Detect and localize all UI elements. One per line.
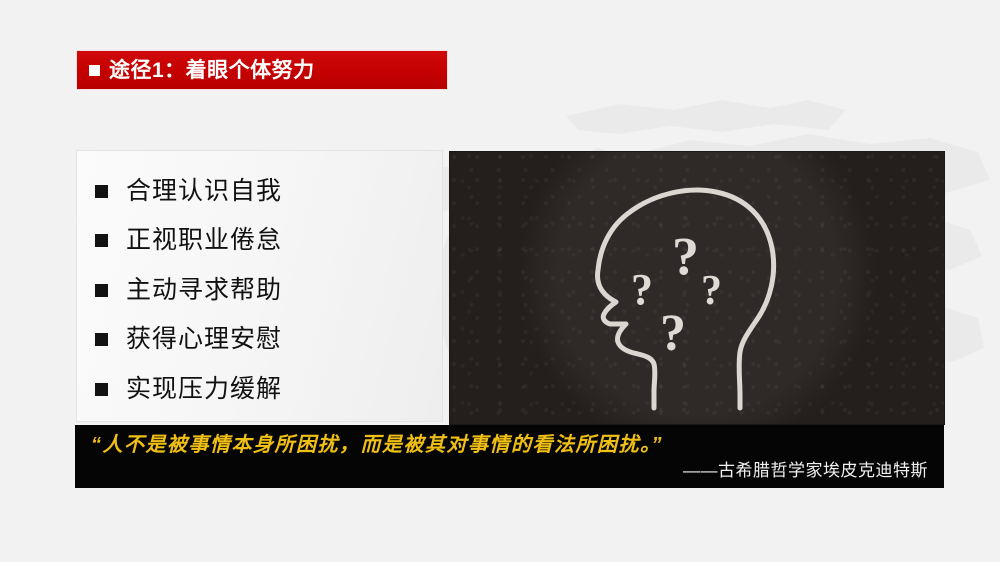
square-bullet-icon xyxy=(95,284,108,297)
square-bullet-icon xyxy=(95,185,108,198)
square-bullet-icon xyxy=(95,234,108,247)
list-item: 主动寻求帮助 xyxy=(95,268,432,312)
list-item-label: 主动寻求帮助 xyxy=(126,278,282,303)
question-mark-icon: ? xyxy=(701,268,722,314)
page-title: 途径1：着眼个体努力 xyxy=(109,60,315,81)
square-bullet-icon xyxy=(89,65,100,76)
square-bullet-icon xyxy=(95,333,108,346)
list-item: 获得心理安慰 xyxy=(95,318,432,362)
question-mark-icon: ? xyxy=(660,305,686,362)
list-item-label: 获得心理安慰 xyxy=(126,327,282,352)
list-item: 合理认识自我 xyxy=(95,169,432,213)
question-mark-group: ? ? ? ? xyxy=(631,226,722,362)
bullet-list-panel: 合理认识自我 正视职业倦怠 主动寻求帮助 获得心理安慰 实现压力缓解 xyxy=(76,150,443,422)
list-item-label: 正视职业倦怠 xyxy=(126,228,282,253)
question-mark-icon: ? xyxy=(631,265,653,314)
chalkboard-head-image: ? ? ? ? xyxy=(450,152,944,424)
question-mark-icon: ? xyxy=(672,226,699,286)
quote-banner: “人不是被事情本身所困扰，而是被其对事情的看法所困扰。” ——古希腊哲学家埃皮克… xyxy=(75,425,944,488)
slide-title-bar: 途径1：着眼个体努力 xyxy=(77,51,447,89)
slide-canvas: 途径1：着眼个体努力 合理认识自我 正视职业倦怠 主动寻求帮助 获得心理安慰 实… xyxy=(0,0,1000,562)
list-item-label: 实现压力缓解 xyxy=(126,377,282,402)
head-profile-outline xyxy=(598,190,774,408)
list-item: 实现压力缓解 xyxy=(95,367,432,411)
list-item: 正视职业倦怠 xyxy=(95,219,432,263)
square-bullet-icon xyxy=(95,383,108,396)
quote-text: “人不是被事情本身所困扰，而是被其对事情的看法所困扰。” xyxy=(91,434,928,457)
list-item-label: 合理认识自我 xyxy=(126,179,282,204)
quote-attribution: ——古希腊哲学家埃皮克迪特斯 xyxy=(91,462,928,481)
